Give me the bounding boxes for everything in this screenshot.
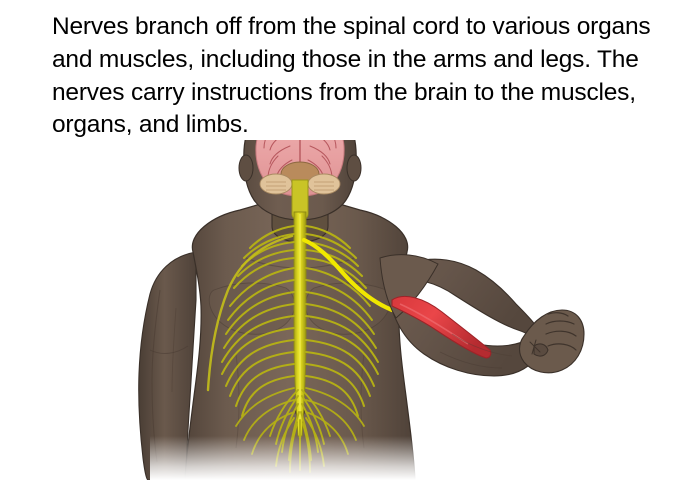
ear-right [347, 155, 361, 181]
cerebellum-right [308, 174, 340, 194]
right-arm [380, 255, 584, 376]
caption-text: Nerves branch off from the spinal cord t… [52, 11, 658, 142]
ear-left [239, 155, 253, 181]
bottom-fade [150, 436, 450, 480]
nervous-system-illustration [0, 140, 700, 480]
page-root: Nerves branch off from the spinal cord t… [0, 0, 700, 480]
cerebellum-left [260, 174, 292, 194]
anatomy-svg [0, 140, 700, 480]
thumb [534, 344, 548, 356]
